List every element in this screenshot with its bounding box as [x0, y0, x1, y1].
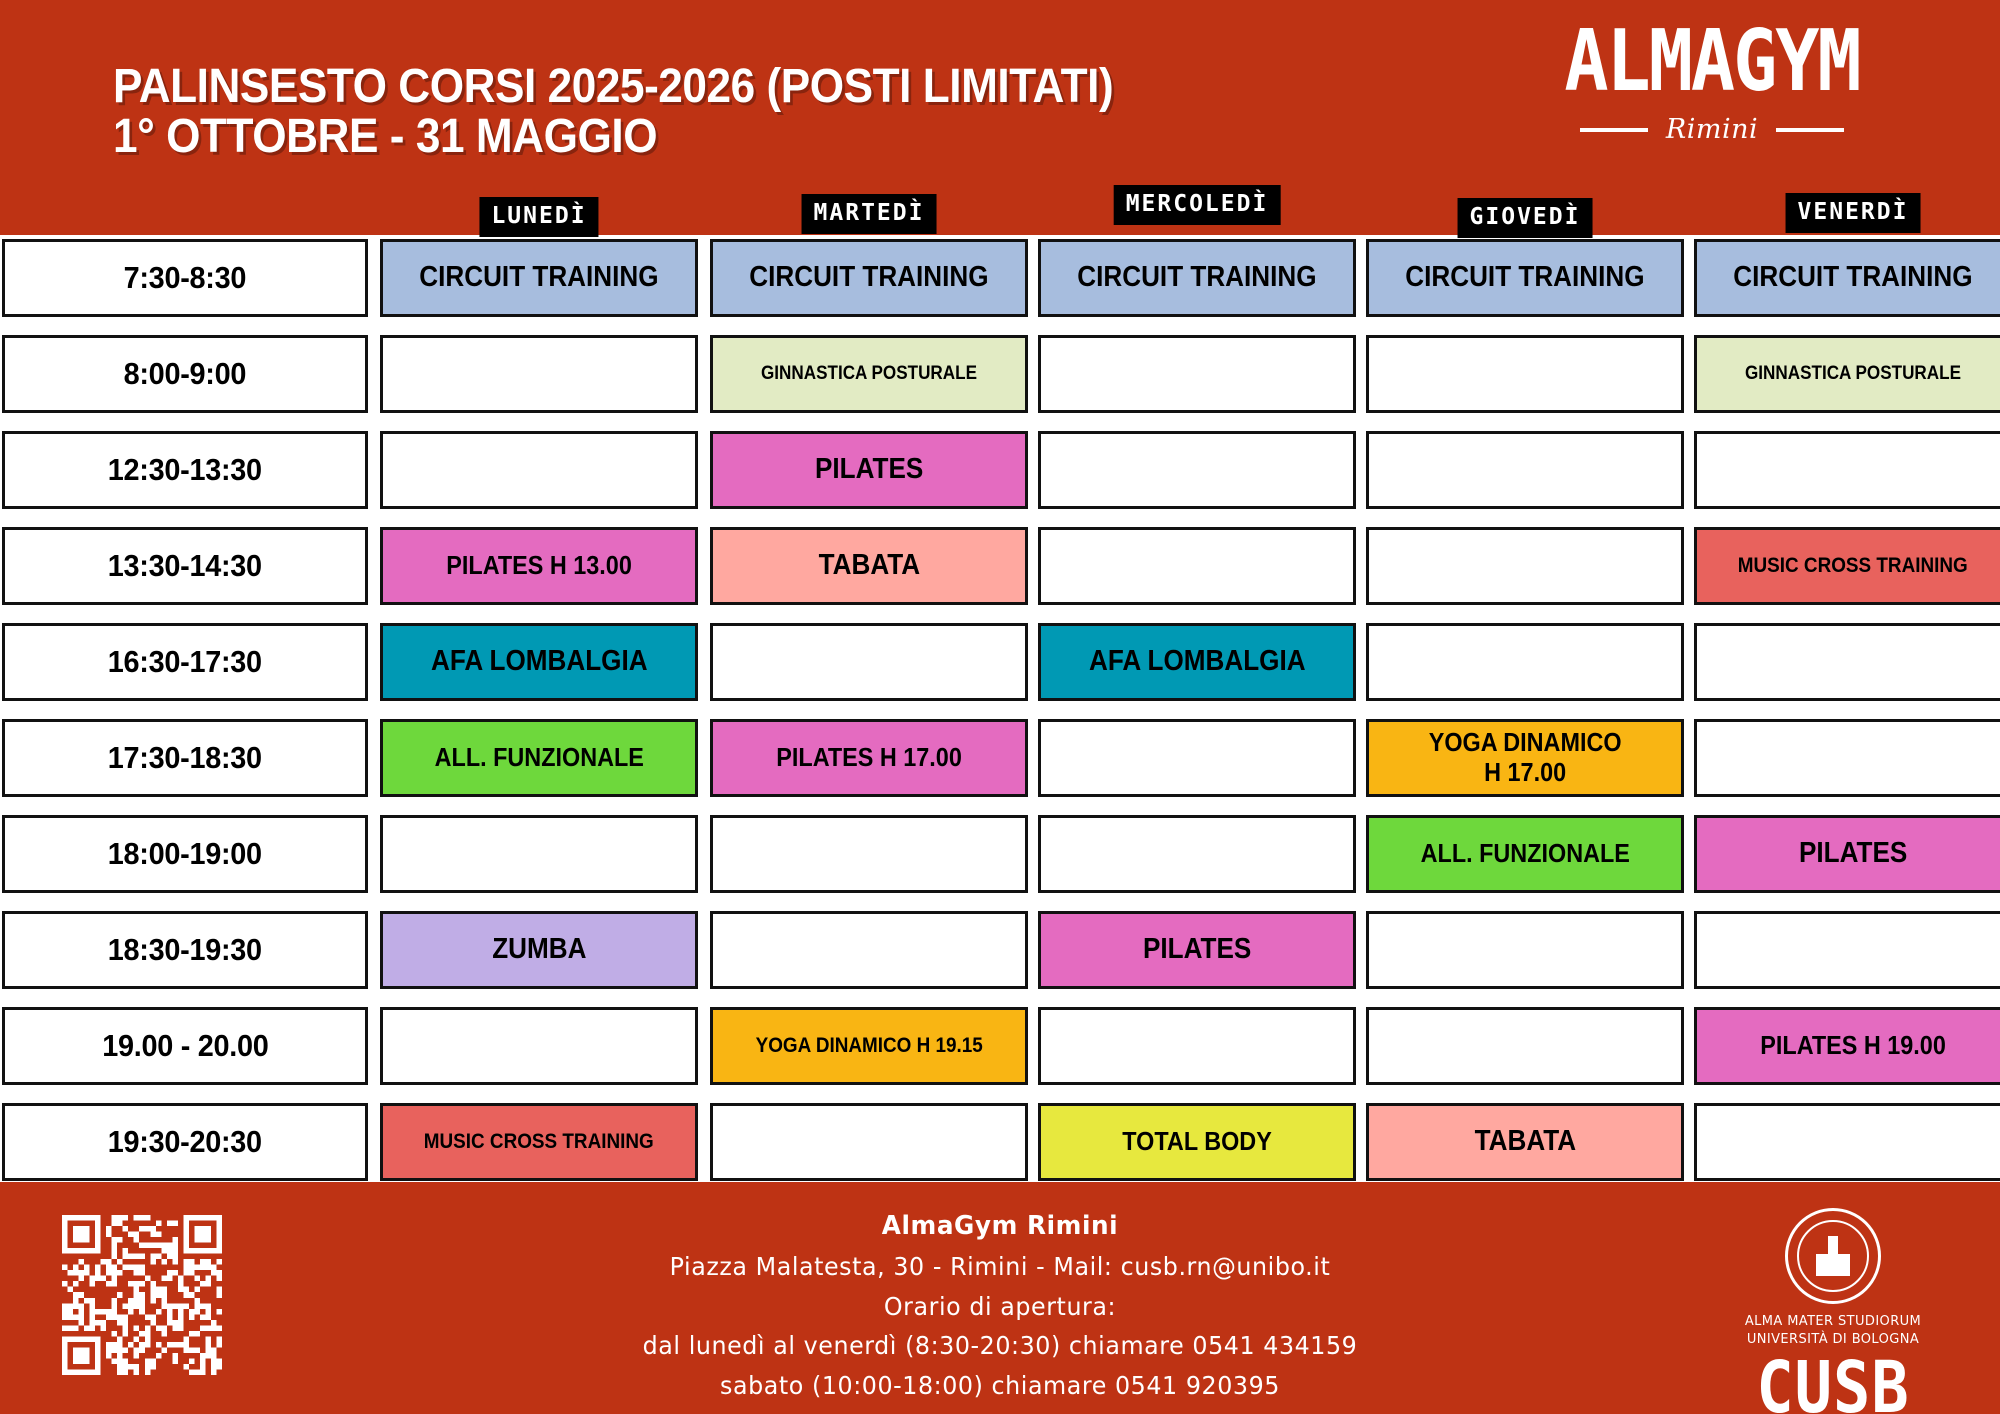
course-label: TABATA	[1474, 1125, 1575, 1158]
course-cell[interactable]: TABATA	[1366, 1103, 1684, 1181]
time-slot-cell: 16:30-17:30	[2, 623, 368, 701]
empty-slot-cell	[710, 911, 1028, 989]
empty-slot-cell	[380, 815, 698, 893]
course-label: PILATES	[1143, 933, 1251, 966]
course-cell[interactable]: CIRCUIT TRAINING	[1038, 239, 1356, 317]
day-header-3: MERCOLEDÌ	[1114, 185, 1281, 225]
almagym-logo: ALMAGYM Rimini	[1482, 18, 1942, 145]
course-label: CIRCUIT TRAINING	[1733, 261, 1972, 294]
empty-slot-cell	[380, 1007, 698, 1085]
course-label: MUSIC CROSS TRAINING	[424, 1130, 654, 1154]
time-slot-cell: 18:30-19:30	[2, 911, 368, 989]
course-cell[interactable]: PILATES	[1694, 815, 2000, 893]
course-label: PILATES H 19.00	[1760, 1031, 1946, 1061]
logo-rule-left	[1580, 128, 1648, 132]
time-slot-cell: 8:00-9:00	[2, 335, 368, 413]
empty-slot-cell	[1694, 911, 2000, 989]
course-label: YOGA DINAMICO H 19.15	[755, 1034, 982, 1058]
course-cell[interactable]: AFA LOMBALGIA	[1038, 623, 1356, 701]
course-cell[interactable]: CIRCUIT TRAINING	[380, 239, 698, 317]
time-slot-cell: 7:30-8:30	[2, 239, 368, 317]
time-slot-label: 18:30-19:30	[108, 932, 262, 968]
footer-hours-label: Orario di apertura:	[335, 1287, 1665, 1327]
footer-hours-weekday: dal lunedì al venerdì (8:30-20:30) chiam…	[335, 1326, 1665, 1366]
course-label: ALL. FUNZIONALE	[434, 743, 643, 773]
cusb-logo: ALMA MATER STUDIORUMUNIVERSITÀ DI BOLOGN…	[1728, 1208, 1938, 1414]
course-cell[interactable]: GINNASTICA POSTURALE	[710, 335, 1028, 413]
time-slot-label: 16:30-17:30	[108, 644, 262, 680]
course-label: MUSIC CROSS TRAINING	[1738, 554, 1968, 578]
course-cell[interactable]: AFA LOMBALGIA	[380, 623, 698, 701]
course-label: CIRCUIT TRAINING	[419, 261, 658, 294]
empty-slot-cell	[1366, 431, 1684, 509]
course-cell[interactable]: ALL. FUNZIONALE	[1366, 815, 1684, 893]
day-header-5: VENERDÌ	[1786, 193, 1921, 233]
logo-rule-right	[1776, 128, 1844, 132]
empty-slot-cell	[1366, 623, 1684, 701]
course-label: ALL. FUNZIONALE	[1420, 839, 1629, 869]
schedule-row: 7:30-8:30CIRCUIT TRAININGCIRCUIT TRAININ…	[0, 239, 2000, 317]
time-slot-cell: 19:30-20:30	[2, 1103, 368, 1181]
empty-slot-cell	[1366, 335, 1684, 413]
schedule-row: 13:30-14:30PILATES H 13.00TABATAMUSIC CR…	[0, 527, 2000, 605]
empty-slot-cell	[1366, 911, 1684, 989]
course-label: PILATES	[1799, 837, 1907, 870]
course-label: CIRCUIT TRAINING	[1077, 261, 1316, 294]
empty-slot-cell	[380, 335, 698, 413]
empty-slot-cell	[1038, 719, 1356, 797]
empty-slot-cell	[380, 431, 698, 509]
time-slot-cell: 13:30-14:30	[2, 527, 368, 605]
day-header-2: MARTEDÌ	[802, 194, 937, 234]
course-label: TABATA	[818, 549, 919, 582]
course-label: TOTAL BODY	[1122, 1127, 1272, 1157]
schedule-poster: PALINSESTO CORSI 2025-2026 (POSTI LIMITA…	[0, 0, 2000, 1414]
course-cell[interactable]: ZUMBA	[380, 911, 698, 989]
empty-slot-cell	[1366, 1007, 1684, 1085]
logo-subtitle: Rimini	[1666, 114, 1758, 145]
course-label: PILATES H 13.00	[446, 551, 632, 581]
time-slot-label: 8:00-9:00	[124, 356, 246, 392]
empty-slot-cell	[710, 815, 1028, 893]
page-title: PALINSESTO CORSI 2025-2026 (POSTI LIMITA…	[113, 62, 1113, 163]
footer-contact-info: AlmaGym Rimini Piazza Malatesta, 30 - Ri…	[335, 1206, 1665, 1405]
empty-slot-cell	[1694, 431, 2000, 509]
poster-header: PALINSESTO CORSI 2025-2026 (POSTI LIMITA…	[0, 0, 2000, 215]
day-header-1: LUNEDÌ	[479, 197, 598, 237]
seal-emblem-icon	[1816, 1236, 1850, 1276]
course-label: PILATES H 17.00	[776, 743, 962, 773]
day-header-4: GIOVEDÌ	[1458, 198, 1593, 238]
course-cell[interactable]: PILATES H 19.00	[1694, 1007, 2000, 1085]
schedule-row: 19:30-20:30MUSIC CROSS TRAININGTOTAL BOD…	[0, 1103, 2000, 1181]
course-label: AFA LOMBALGIA	[431, 645, 648, 678]
time-slot-label: 7:30-8:30	[124, 260, 246, 296]
schedule-row: 18:00-19:00ALL. FUNZIONALEPILATES	[0, 815, 2000, 893]
empty-slot-cell	[1694, 1103, 2000, 1181]
course-cell[interactable]: GINNASTICA POSTURALE	[1694, 335, 2000, 413]
time-slot-label: 19:30-20:30	[108, 1124, 262, 1160]
course-cell[interactable]: MUSIC CROSS TRAINING	[1694, 527, 2000, 605]
course-cell[interactable]: PILATES H 17.00	[710, 719, 1028, 797]
time-slot-label: 17:30-18:30	[108, 740, 262, 776]
course-cell[interactable]: TOTAL BODY	[1038, 1103, 1356, 1181]
cusb-university-name: ALMA MATER STUDIORUMUNIVERSITÀ DI BOLOGN…	[1728, 1313, 1938, 1348]
course-label: GINNASTICA POSTURALE	[761, 363, 977, 385]
schedule-grid: 7:30-8:30CIRCUIT TRAININGCIRCUIT TRAININ…	[0, 235, 2000, 1182]
course-cell[interactable]: PILATES	[710, 431, 1028, 509]
time-slot-cell: 12:30-13:30	[2, 431, 368, 509]
empty-slot-cell	[1694, 719, 2000, 797]
university-seal-icon	[1785, 1208, 1881, 1304]
time-slot-cell: 17:30-18:30	[2, 719, 368, 797]
schedule-row: 12:30-13:30PILATES	[0, 431, 2000, 509]
logo-wordmark: ALMAGYM	[1477, 18, 1946, 103]
course-cell[interactable]: PILATES H 13.00	[380, 527, 698, 605]
course-cell[interactable]: YOGA DINAMICO H 19.15	[710, 1007, 1028, 1085]
empty-slot-cell	[1038, 527, 1356, 605]
empty-slot-cell	[1038, 1007, 1356, 1085]
footer-address: Piazza Malatesta, 30 - Rimini - Mail: cu…	[335, 1247, 1665, 1287]
course-cell[interactable]: CIRCUIT TRAINING	[1694, 239, 2000, 317]
schedule-row: 8:00-9:00GINNASTICA POSTURALEGINNASTICA …	[0, 335, 2000, 413]
course-cell[interactable]: YOGA DINAMICOH 17.00	[1366, 719, 1684, 797]
footer-hours-saturday: sabato (10:00-18:00) chiamare 0541 92039…	[335, 1366, 1665, 1406]
footer-org-name: AlmaGym Rimini	[335, 1206, 1665, 1247]
time-slot-cell: 18:00-19:00	[2, 815, 368, 893]
empty-slot-cell	[1366, 527, 1684, 605]
course-label: CIRCUIT TRAINING	[749, 261, 988, 294]
time-slot-cell: 19.00 - 20.00	[2, 1007, 368, 1085]
course-label: GINNASTICA POSTURALE	[1745, 363, 1961, 385]
cusb-wordmark: CUSB	[1728, 1352, 1938, 1414]
course-cell[interactable]: CIRCUIT TRAINING	[1366, 239, 1684, 317]
empty-slot-cell	[710, 623, 1028, 701]
course-label: ZUMBA	[492, 933, 586, 966]
course-cell[interactable]: TABATA	[710, 527, 1028, 605]
course-label: PILATES	[815, 453, 923, 486]
time-slot-label: 19.00 - 20.00	[102, 1028, 268, 1064]
course-label: AFA LOMBALGIA	[1089, 645, 1306, 678]
schedule-row: 19.00 - 20.00YOGA DINAMICO H 19.15PILATE…	[0, 1007, 2000, 1085]
course-cell[interactable]: ALL. FUNZIONALE	[380, 719, 698, 797]
time-slot-label: 18:00-19:00	[108, 836, 262, 872]
empty-slot-cell	[1038, 431, 1356, 509]
empty-slot-cell	[1694, 623, 2000, 701]
time-slot-label: 12:30-13:30	[108, 452, 262, 488]
course-label: YOGA DINAMICOH 17.00	[1429, 728, 1622, 788]
schedule-row: 17:30-18:30ALL. FUNZIONALEPILATES H 17.0…	[0, 719, 2000, 797]
logo-subtitle-row: Rimini	[1482, 114, 1942, 145]
schedule-row: 16:30-17:30AFA LOMBALGIAAFA LOMBALGIA	[0, 623, 2000, 701]
course-cell[interactable]: CIRCUIT TRAINING	[710, 239, 1028, 317]
qr-code-icon[interactable]	[62, 1215, 222, 1375]
empty-slot-cell	[1038, 335, 1356, 413]
title-line-1: PALINSESTO CORSI 2025-2026 (POSTI LIMITA…	[113, 62, 1113, 112]
title-line-2: 1° OTTOBRE - 31 MAGGIO	[113, 112, 1113, 162]
course-cell[interactable]: MUSIC CROSS TRAINING	[380, 1103, 698, 1181]
empty-slot-cell	[1038, 815, 1356, 893]
schedule-row: 18:30-19:30ZUMBAPILATES	[0, 911, 2000, 989]
course-cell[interactable]: PILATES	[1038, 911, 1356, 989]
time-slot-label: 13:30-14:30	[108, 548, 262, 584]
course-label: CIRCUIT TRAINING	[1405, 261, 1644, 294]
empty-slot-cell	[710, 1103, 1028, 1181]
